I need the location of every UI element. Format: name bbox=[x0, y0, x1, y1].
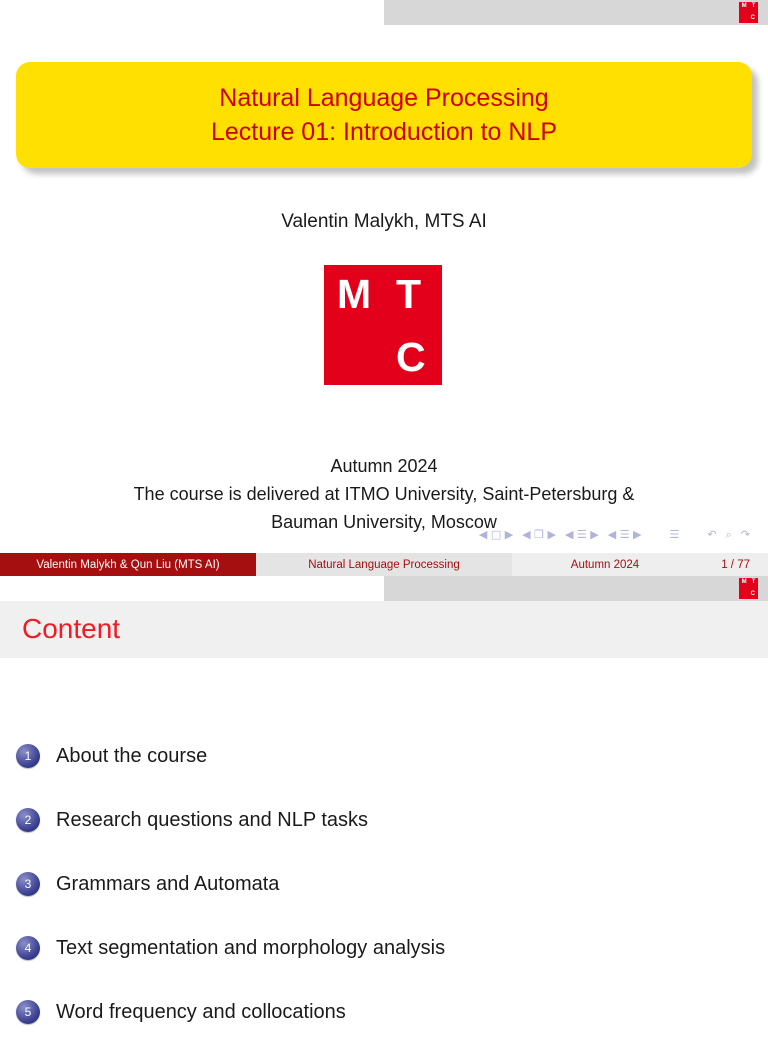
toc-label-5: Word frequency and collocations bbox=[56, 1001, 346, 1024]
slide-content-page: M T C Content 1 About the course 2 Resea… bbox=[0, 576, 768, 1024]
toc-label-1: About the course bbox=[56, 745, 207, 768]
previous-frame-nav-icon[interactable]: ◀ ❐ ▶ bbox=[522, 529, 556, 540]
toc-number-badge-4: 4 bbox=[16, 936, 40, 960]
search-nav-icon[interactable]: ⌕ bbox=[726, 529, 732, 540]
mts-logo-large-icon: M T C bbox=[324, 265, 442, 385]
mts-logo-2-letter-m: M bbox=[742, 579, 747, 586]
footer-date: Autumn 2024 bbox=[512, 553, 698, 576]
list-item[interactable]: 1 About the course bbox=[0, 724, 768, 788]
footer-page-number: 1 / 77 bbox=[698, 553, 768, 576]
list-item[interactable]: 2 Research questions and NLP tasks bbox=[0, 788, 768, 852]
date-and-venue: Autumn 2024 The course is delivered at I… bbox=[0, 452, 768, 536]
mts-large-letter-t: T bbox=[396, 272, 421, 316]
venue-line-1: The course is delivered at ITMO Universi… bbox=[0, 480, 768, 508]
mts-logo-letter-c: C bbox=[751, 15, 755, 21]
presentation-title-box: Natural Language Processing Lecture 01: … bbox=[16, 62, 752, 168]
list-item[interactable]: 5 Word frequency and collocations bbox=[0, 980, 768, 1044]
page-title: Content bbox=[22, 612, 120, 646]
previous-slide-nav-icon[interactable]: ◀ ☰ ▶ bbox=[565, 529, 599, 540]
presentation-title-line-2: Lecture 01: Introduction to NLP bbox=[211, 115, 557, 149]
slide-footer: Valentin Malykh & Qun Liu (MTS AI) Natur… bbox=[0, 553, 768, 576]
mts-logo-letter-t: T bbox=[752, 3, 756, 10]
header-band-2 bbox=[384, 576, 768, 601]
table-of-contents: 1 About the course 2 Research questions … bbox=[0, 724, 768, 1044]
mts-large-letter-m: M bbox=[337, 272, 371, 316]
first-slide-nav-icon[interactable]: ◀ □ ▶ bbox=[479, 529, 513, 540]
author-name: Valentin Malykh, MTS AI bbox=[0, 211, 768, 233]
back-nav-icon[interactable]: ↶ bbox=[707, 529, 716, 540]
footer-course-title: Natural Language Processing bbox=[256, 553, 512, 576]
list-item[interactable]: 3 Grammars and Automata bbox=[0, 852, 768, 916]
mts-logo-icon-2: M T C bbox=[739, 578, 758, 599]
list-item[interactable]: 4 Text segmentation and morphology analy… bbox=[0, 916, 768, 980]
last-slide-nav-icon[interactable]: ☰ bbox=[670, 529, 680, 540]
mts-large-letter-c: C bbox=[396, 335, 426, 379]
toc-number-badge-5: 5 bbox=[16, 1000, 40, 1024]
next-slide-nav-icon[interactable]: ◀ ☰ ▶ bbox=[608, 529, 642, 540]
slide-title-page: M T C Natural Language Processing Lectur… bbox=[0, 0, 768, 576]
header-band bbox=[384, 0, 768, 25]
toc-number-badge-1: 1 bbox=[16, 744, 40, 768]
toc-label-3: Grammars and Automata bbox=[56, 873, 279, 896]
forward-nav-icon[interactable]: ↷ bbox=[741, 529, 750, 540]
presentation-date: Autumn 2024 bbox=[0, 452, 768, 480]
toc-number-badge-2: 2 bbox=[16, 808, 40, 832]
title-box-wrapper: Natural Language Processing Lecture 01: … bbox=[16, 62, 752, 168]
mts-logo-letter-m: M bbox=[742, 3, 747, 10]
beamer-navigation-symbols[interactable]: ◀ □ ▶ ◀ ❐ ▶ ◀ ☰ ▶ ◀ ☰ ▶ ☰ ↶ ⌕ ↷ bbox=[479, 529, 750, 540]
mts-logo-icon: M T C bbox=[739, 2, 758, 23]
toc-label-4: Text segmentation and morphology analysi… bbox=[56, 937, 445, 960]
mts-logo-2-letter-t: T bbox=[752, 579, 756, 586]
presentation-title-line-1: Natural Language Processing bbox=[219, 81, 548, 115]
mts-logo-2-letter-c: C bbox=[751, 591, 755, 597]
toc-label-2: Research questions and NLP tasks bbox=[56, 809, 368, 832]
footer-author: Valentin Malykh & Qun Liu (MTS AI) bbox=[0, 553, 256, 576]
toc-number-badge-3: 3 bbox=[16, 872, 40, 896]
